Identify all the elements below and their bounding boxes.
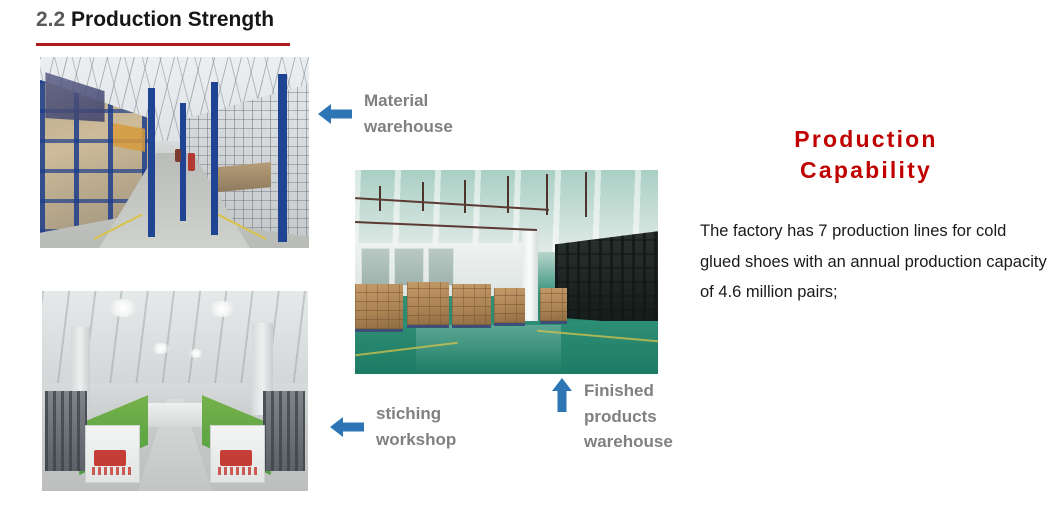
- photo-stitching-workshop-content: [42, 291, 308, 491]
- workshop-logo-text-left: [92, 467, 132, 475]
- workshop-logo-text-right: [218, 467, 258, 475]
- callout-stitching-workshop-label: stiching workshop: [376, 401, 480, 452]
- carton-pallet-5: [540, 288, 567, 324]
- carton-pallet-4: [494, 288, 524, 326]
- photo-stitching-workshop: [42, 291, 308, 491]
- workshop-logo-left: [94, 450, 126, 467]
- photo-material-warehouse: [40, 57, 309, 248]
- title-underline: [36, 43, 290, 46]
- warehouse-blue-post-1: [148, 88, 155, 237]
- workshop-far-end: [148, 403, 201, 427]
- warehouse-blue-post-2: [180, 103, 186, 221]
- arrow-up-icon: [552, 378, 572, 412]
- photo-finished-products-warehouse: [355, 170, 658, 374]
- wall-window-1: [361, 248, 390, 287]
- carton-pallet-3: [452, 284, 491, 328]
- page-title: 2.2 Production Strength: [36, 8, 274, 32]
- warehouse-blue-post-3: [211, 82, 218, 235]
- callout-finished-products-warehouse: Finished products warehouse: [552, 378, 692, 455]
- callout-material-warehouse-label: Material warehouse: [364, 88, 476, 139]
- arrow-left-icon: [330, 417, 364, 437]
- callout-material-warehouse: Material warehouse: [318, 88, 476, 139]
- workshop-ceiling-lamp-3: [151, 343, 171, 354]
- workshop-branded-panel-right: [210, 425, 265, 483]
- capability-heading: Production Capability: [690, 124, 1042, 185]
- callout-stitching-workshop: stiching workshop: [330, 401, 480, 452]
- capability-heading-line1: Production: [690, 124, 1042, 155]
- workshop-ceiling-lamp-2: [207, 301, 237, 317]
- ceiling-dropper-3: [464, 180, 466, 213]
- photo-material-warehouse-content: [40, 57, 309, 248]
- floor-reflection: [416, 325, 561, 374]
- page-title-number: 2.2: [36, 8, 65, 31]
- ceiling-dropper-6: [585, 172, 587, 217]
- workshop-material-rack-left: [45, 391, 88, 471]
- wall-window-3: [428, 248, 454, 287]
- capability-heading-line2: Capability: [690, 155, 1042, 186]
- workshop-ceiling-lamp-1: [106, 299, 140, 317]
- wall-window-2: [394, 248, 423, 287]
- carton-pallet-2: [407, 282, 449, 328]
- workshop-material-rack-right: [263, 391, 306, 471]
- slide-canvas: 2.2 Production Strength: [0, 0, 1060, 514]
- carton-pallet-1: [355, 284, 403, 332]
- page-title-text: Production Strength: [71, 8, 274, 31]
- callout-finished-products-warehouse-label: Finished products warehouse: [584, 378, 692, 455]
- workshop-logo-right: [220, 450, 252, 467]
- capability-body-text: The factory has 7 production lines for c…: [700, 216, 1048, 308]
- photo-finished-products-warehouse-content: [355, 170, 658, 374]
- ceiling-dropper-2: [422, 182, 424, 211]
- workshop-branded-panel-left: [85, 425, 140, 483]
- warehouse-worker-2: [175, 149, 181, 162]
- arrow-left-icon: [318, 104, 352, 124]
- finished-warehouse-dark-racking: [555, 231, 658, 325]
- warehouse-blue-post-4: [278, 74, 287, 242]
- warehouse-worker-1: [188, 153, 195, 171]
